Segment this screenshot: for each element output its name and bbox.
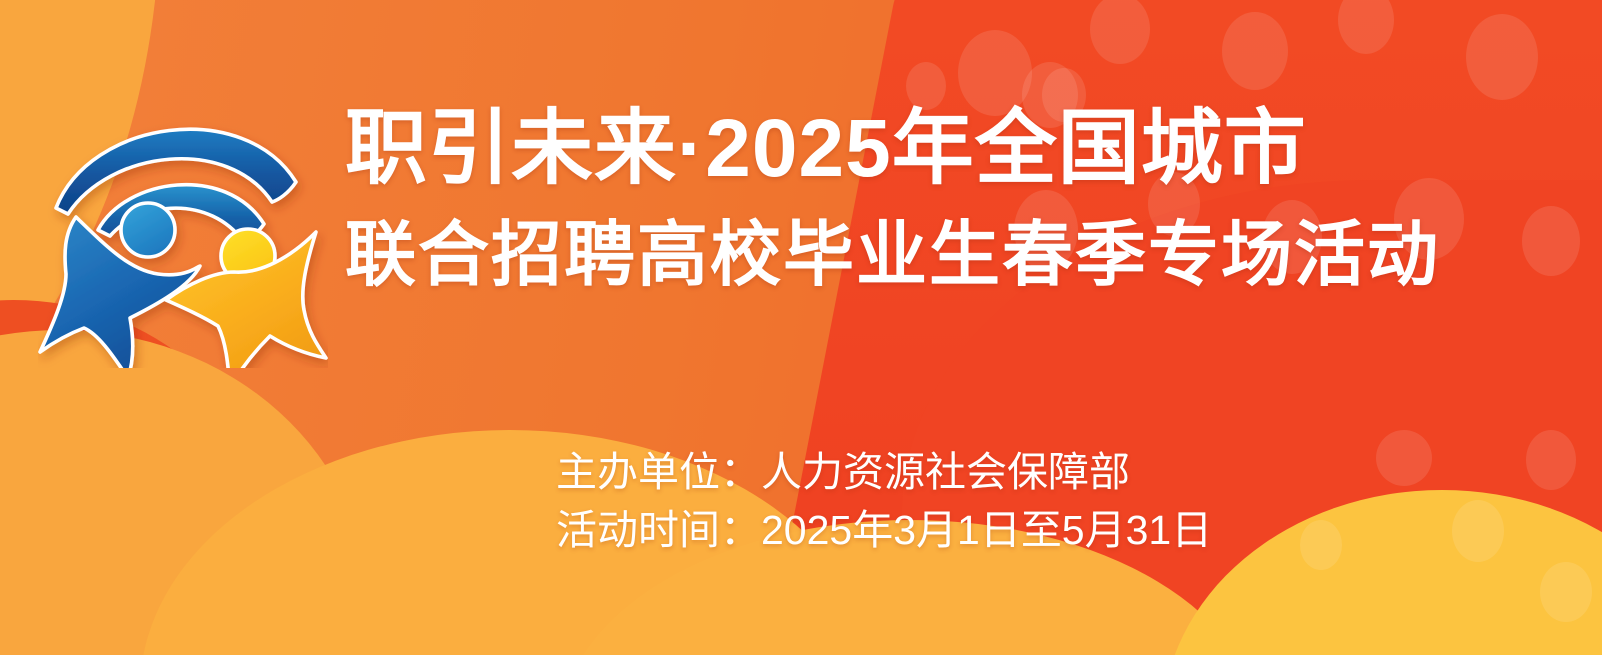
recruitment-campaign-banner: 职引未来·2025年全国城市 联合招聘高校毕业生春季专场活动 主办单位：人力资源… [0, 0, 1602, 655]
headline-line-1: 职引未来·2025年全国城市 [345, 108, 1545, 190]
event-time-line: 活动时间：2025年3月1日至5月31日 [556, 501, 1212, 559]
logo-left-figure-head [121, 203, 175, 257]
subinfo-block: 主办单位：人力资源社会保障部 活动时间：2025年3月1日至5月31日 [556, 443, 1212, 559]
campaign-logo [38, 78, 328, 368]
organizer-line: 主办单位：人力资源社会保障部 [556, 443, 1212, 501]
headline-line-2: 联合招聘高校毕业生春季专场活动 [345, 220, 1545, 291]
headline-block: 职引未来·2025年全国城市 联合招聘高校毕业生春季专场活动 [345, 108, 1545, 291]
